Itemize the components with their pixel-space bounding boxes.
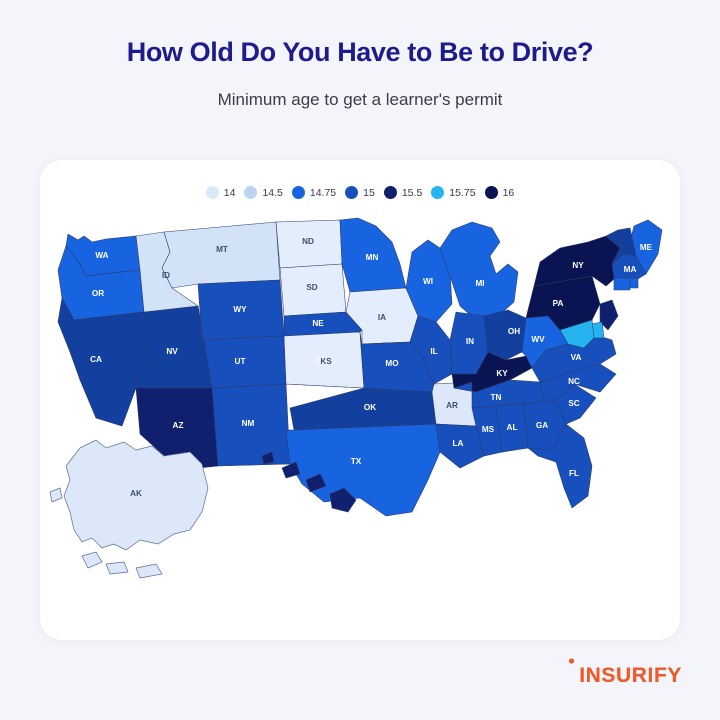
state-label-MA: MA <box>624 265 637 274</box>
state-label-SC: SC <box>568 399 579 408</box>
state-MT[interactable] <box>162 222 280 288</box>
legend-label: 15.75 <box>449 187 475 199</box>
state-label-UT: UT <box>235 357 246 366</box>
legend: 14 14.5 14.75 15 15.5 15.75 <box>40 160 680 199</box>
state-CT[interactable] <box>614 278 630 290</box>
state-label-WY: WY <box>233 305 247 314</box>
state-MI[interactable] <box>440 222 518 320</box>
state-label-OR: OR <box>92 289 104 298</box>
state-label-MO: MO <box>385 359 399 368</box>
insurify-logo[interactable]: INSURIFY <box>565 656 682 688</box>
legend-swatch-icon <box>384 186 397 199</box>
state-AK[interactable] <box>50 440 208 578</box>
legend-swatch-icon <box>292 186 305 199</box>
state-label-MI: MI <box>475 279 484 288</box>
legend-item[interactable]: 15 <box>345 186 375 199</box>
state-label-TX: TX <box>351 457 362 466</box>
state-label-IL: IL <box>430 347 437 356</box>
header: How Old Do You Have to Be to Drive? Mini… <box>0 0 720 110</box>
state-label-IN: IN <box>466 337 474 346</box>
legend-swatch-icon <box>345 186 358 199</box>
legend-item[interactable]: 15.5 <box>384 186 422 199</box>
page-subtitle: Minimum age to get a learner's permit <box>0 90 720 110</box>
state-RI[interactable] <box>630 278 638 288</box>
state-label-MS: MS <box>482 425 495 434</box>
state-label-KY: KY <box>496 369 508 378</box>
logo-text: INSURIFY <box>579 664 682 688</box>
legend-label: 15 <box>363 187 375 199</box>
state-label-NC: NC <box>568 377 580 386</box>
map-card: 14 14.5 14.75 15 15.5 15.75 <box>40 160 680 640</box>
state-label-OH: OH <box>508 327 520 336</box>
state-label-KS2: KS <box>320 357 332 366</box>
legend-swatch-icon <box>206 186 219 199</box>
state-label-TN: TN <box>491 393 502 402</box>
state-label-CA: CA <box>90 355 102 364</box>
legend-label: 14.5 <box>262 187 282 199</box>
us-choropleth-map: WA OR CA NV ID MT WY UT CO AZ NM ND SD N… <box>40 212 680 612</box>
state-label-WA: WA <box>95 251 108 260</box>
state-label-MN: MN <box>366 253 379 262</box>
state-label-AK: AK <box>130 489 142 498</box>
state-label-WV: WV <box>531 335 545 344</box>
legend-item[interactable]: 15.75 <box>431 186 475 199</box>
state-label-ME: ME <box>640 243 653 252</box>
state-label-FL: FL <box>569 469 579 478</box>
legend-label: 14.75 <box>310 187 336 199</box>
state-label-AL: AL <box>507 423 518 432</box>
state-label-OK: OK <box>364 403 376 412</box>
state-label-WI: WI <box>423 277 433 286</box>
legend-item[interactable]: 14 <box>206 186 236 199</box>
page-title: How Old Do You Have to Be to Drive? <box>0 38 720 68</box>
state-label-NE: NE <box>312 319 324 328</box>
legend-item[interactable]: 16 <box>485 186 515 199</box>
legend-item[interactable]: 14.75 <box>292 186 336 199</box>
legend-item[interactable]: 14.5 <box>244 186 282 199</box>
state-label-ND: ND <box>302 237 314 246</box>
logo-dot-icon <box>565 656 578 682</box>
state-label-IA: IA <box>378 313 386 322</box>
state-label-NY: NY <box>572 261 584 270</box>
state-label-NM: NM <box>242 419 255 428</box>
state-CA[interactable] <box>58 298 150 426</box>
state-label-SD: SD <box>306 283 317 292</box>
legend-swatch-icon <box>244 186 257 199</box>
state-label-AZ: AZ <box>173 421 184 430</box>
state-shapes <box>50 218 662 578</box>
legend-label: 16 <box>503 187 515 199</box>
state-label-AR: AR <box>446 401 458 410</box>
state-label-GA: GA <box>536 421 548 430</box>
state-label-PA: PA <box>553 299 564 308</box>
state-label-NV: NV <box>166 347 178 356</box>
legend-swatch-icon <box>431 186 444 199</box>
state-label-ID: ID <box>162 271 170 280</box>
legend-label: 15.5 <box>402 187 422 199</box>
legend-swatch-icon <box>485 186 498 199</box>
state-TX[interactable] <box>286 424 440 516</box>
state-label-VA: VA <box>571 353 582 362</box>
state-label-MT: MT <box>216 245 228 254</box>
state-label-LA: LA <box>453 439 464 448</box>
infographic-page: How Old Do You Have to Be to Drive? Mini… <box>0 0 720 720</box>
legend-label: 14 <box>224 187 236 199</box>
